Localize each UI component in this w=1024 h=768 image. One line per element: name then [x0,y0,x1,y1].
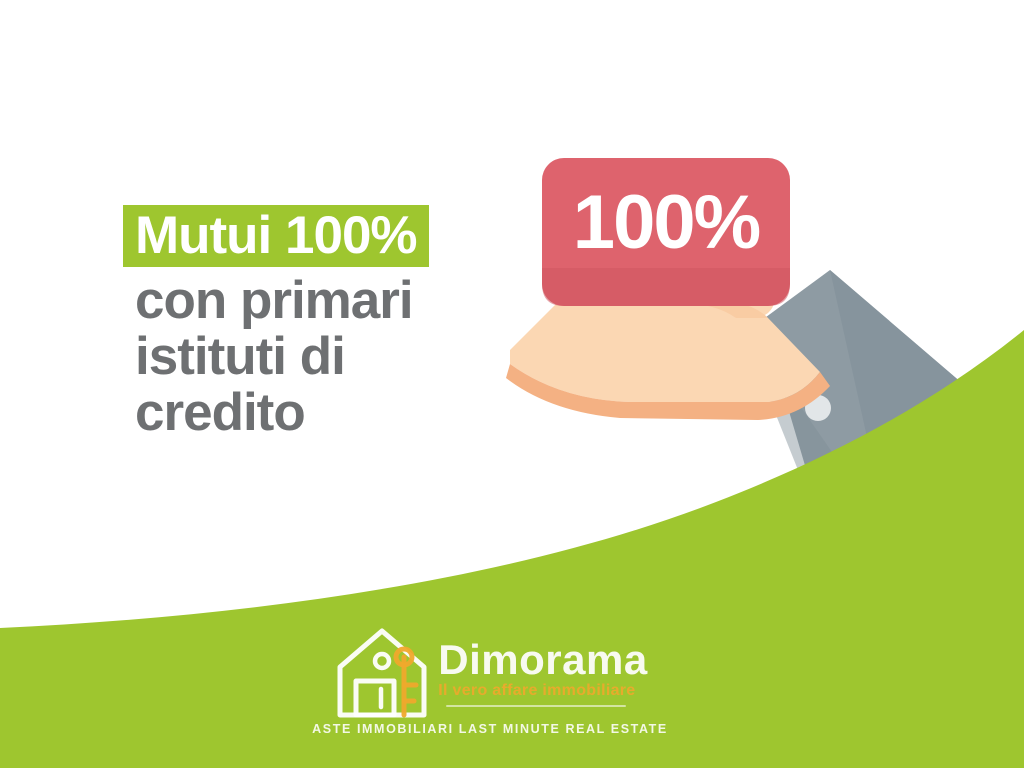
logo-name: Dimorama [438,640,647,680]
card-percentage-label: 100% [573,180,760,265]
logo-wordmark: Dimorama Il vero affare immobiliare [438,636,647,707]
sleeve-graphic [762,270,1024,550]
house-outline-icon [332,623,432,719]
logo-underline-rule [446,705,626,707]
logo-caption: ASTE IMMOBILIARI LAST MINUTE REAL ESTATE [312,722,668,736]
headline-line-2: con primari [125,274,545,328]
headline-line-4: credito [125,386,545,440]
headline-block: Mutui 100% con primari istituti di credi… [125,205,545,440]
percentage-card: 100% [542,158,790,306]
promo-banner: 100% Mutui 100% con primari istituti di … [0,0,1024,768]
hand-holding-card-illustration: 100% [500,150,1024,550]
logo-lockup[interactable]: Dimorama Il vero affare immobiliare ASTE… [290,622,690,762]
headline-line-1: Mutui 100% [123,205,429,267]
headline-line-3: istituti di [125,330,545,384]
logo-primary-row: Dimorama Il vero affare immobiliare [290,622,690,720]
logo-tagline: Il vero affare immobiliare [438,682,647,700]
